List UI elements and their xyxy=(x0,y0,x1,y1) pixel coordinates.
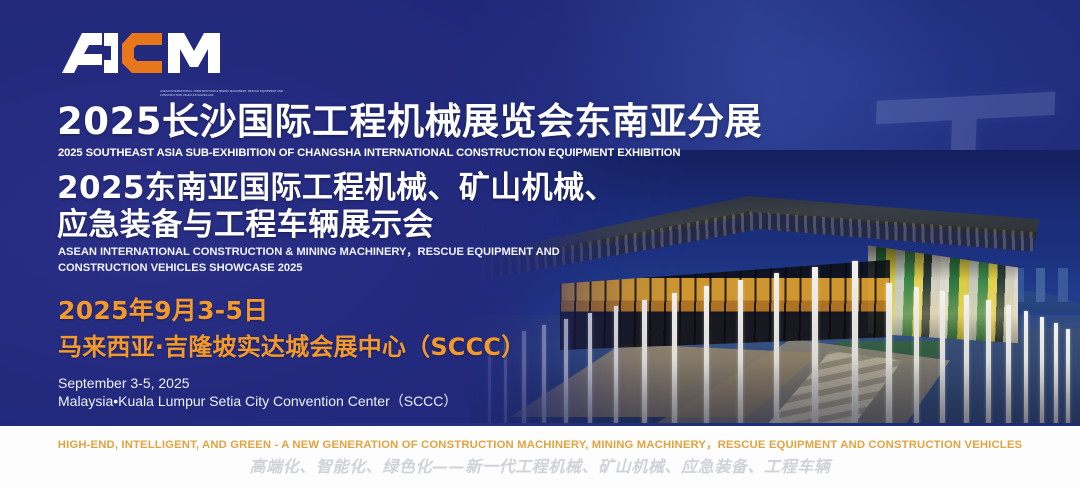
headline-secondary-en-line2: CONSTRUCTION VEHICLES SHOWCASE 2025 xyxy=(58,261,560,277)
footer-tagline-cn: 高端化、智能化、绿色化——新一代工程机械、矿山机械、应急装备、工程车辆 xyxy=(249,457,830,476)
headline-primary-cn: 2025长沙国际工程机械展览会东南亚分展 xyxy=(57,101,762,143)
headline-secondary-cn: 2025东南亚国际工程机械、矿山机械、 应急装备与工程车辆展示会 xyxy=(57,170,616,244)
headline-secondary-en: ASEAN INTERNATIONAL CONSTRUCTION & MININ… xyxy=(58,245,560,276)
content-column: ASEAN INTERNATIONAL CONSTRUCTION & MININ… xyxy=(0,0,740,425)
headline-secondary-cn-line1: 2025东南亚国际工程机械、矿山机械、 xyxy=(57,170,616,207)
event-venue-en: Malaysia•Kuala Lumpur Setia City Convent… xyxy=(58,392,457,411)
event-venue-cn: 马来西亚·吉隆坡实达城会展中心（SCCC） xyxy=(58,332,525,362)
acm-logo-icon xyxy=(58,27,238,79)
headline-primary-en: 2025 SOUTHEAST ASIA SUB-EXHIBITION OF CH… xyxy=(58,146,680,160)
footer-bar: HIGH-END, INTELLIGENT, AND GREEN - A NEW… xyxy=(0,426,1080,488)
headline-secondary-cn-line2: 应急装备与工程车辆展示会 xyxy=(57,207,616,244)
exhibition-banner: 工 xyxy=(0,0,1080,488)
logo-subtitle: ASEAN INTERNATIONAL CONSTRUCTION & MININ… xyxy=(160,90,292,97)
headline-secondary-en-line1: ASEAN INTERNATIONAL CONSTRUCTION & MININ… xyxy=(58,245,560,261)
footer-tagline-en: HIGH-END, INTELLIGENT, AND GREEN - A NEW… xyxy=(58,439,1022,452)
event-date-en: September 3-5, 2025 xyxy=(58,374,190,393)
acm-logo: ASEAN INTERNATIONAL CONSTRUCTION & MININ… xyxy=(58,27,238,79)
event-date-cn: 2025年9月3-5日 xyxy=(58,295,268,326)
